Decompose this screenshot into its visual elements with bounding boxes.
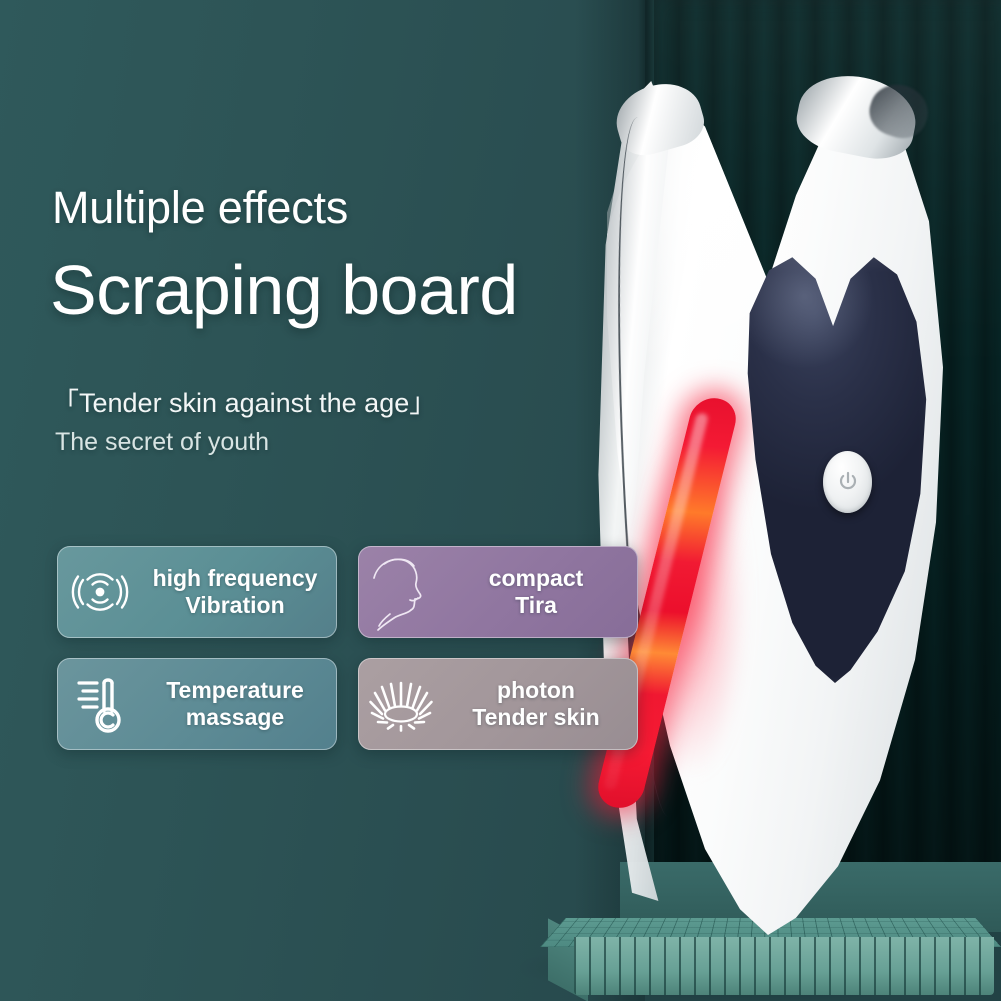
feature-badge-row-2: Temperature massage <box>57 658 647 750</box>
feature-line2: massage <box>143 704 327 731</box>
feature-line2: Tira <box>444 592 628 619</box>
face-profile-icon <box>358 546 444 638</box>
feature-badge-label: photon Tender skin <box>444 677 638 730</box>
hero-subtagline: The secret of youth <box>55 428 269 457</box>
feature-badge-label: high frequency Vibration <box>143 565 337 618</box>
feature-badge-grid: high frequency Vibration compact <box>57 546 647 770</box>
thermometer-icon <box>57 658 143 750</box>
photon-burst-icon <box>358 658 444 750</box>
feature-line2: Vibration <box>143 592 327 619</box>
background-left-wall <box>0 0 645 1001</box>
feature-line1: photon <box>497 677 575 703</box>
power-button[interactable] <box>823 451 872 513</box>
feature-badge-label: Temperature massage <box>143 677 337 730</box>
feature-badge-vibration[interactable]: high frequency Vibration <box>57 546 337 638</box>
product-banner: Multiple effects Scraping board 「Tender … <box>0 0 1001 1001</box>
feature-badge-label: compact Tira <box>444 565 638 618</box>
hero-title: Scraping board <box>50 250 518 330</box>
feature-badge-row-1: high frequency Vibration compact <box>57 546 647 638</box>
feature-line2: Tender skin <box>444 704 628 731</box>
power-icon <box>836 470 860 494</box>
feature-badge-photon[interactable]: photon Tender skin <box>358 658 638 750</box>
feature-line1: compact <box>489 565 584 591</box>
feature-badge-compact-tira[interactable]: compact Tira <box>358 546 638 638</box>
vibration-waves-icon <box>57 546 143 638</box>
product-device <box>570 55 990 945</box>
platform-front-face <box>574 937 994 995</box>
feature-line1: Temperature <box>166 677 304 703</box>
feature-line1: high frequency <box>153 565 318 591</box>
feature-badge-temperature[interactable]: Temperature massage <box>57 658 337 750</box>
hero-tagline: 「Tender skin against the age」 <box>52 381 436 420</box>
hero-eyebrow: Multiple effects <box>52 182 348 234</box>
